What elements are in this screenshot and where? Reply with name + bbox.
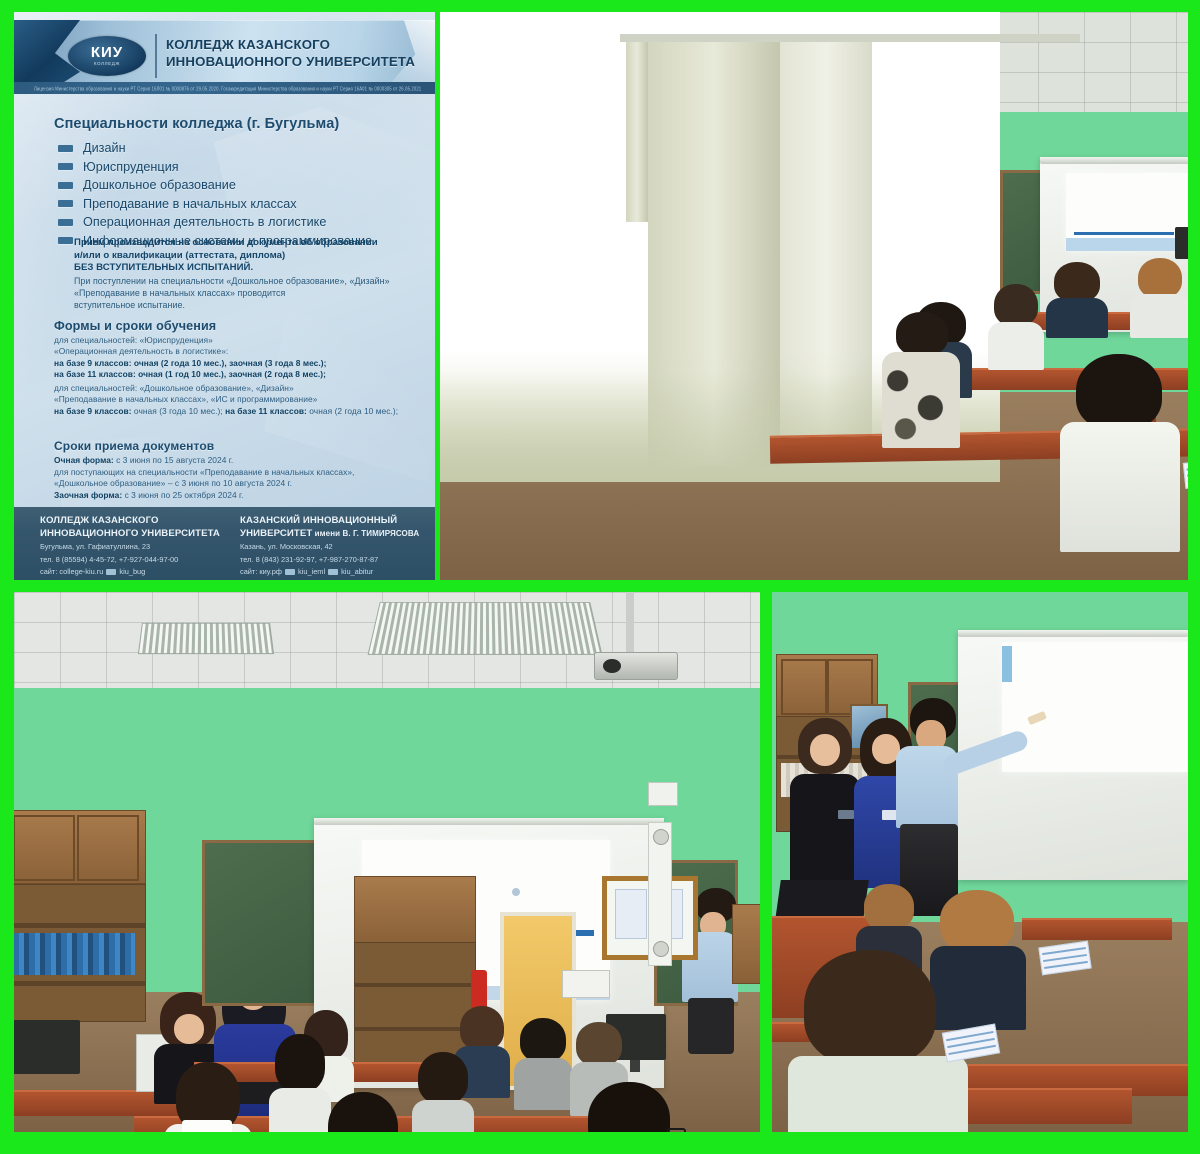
student-figure — [514, 1018, 572, 1104]
footer-university-column: КАЗАНСКИЙ ИННОВАЦИОННЫЙ УНИВЕРСИТЕТ имен… — [240, 515, 435, 578]
wall-cabinet — [354, 876, 476, 944]
classroom-presentation-photo — [440, 12, 1188, 580]
bullet-icon — [58, 145, 73, 152]
presenter-figure — [896, 698, 992, 914]
ceiling-lamp — [138, 623, 274, 654]
computer-monitor — [1175, 227, 1188, 259]
specialties-list: Дизайн Юриспруденция Дошкольное образова… — [58, 139, 428, 250]
student-glasses-figure — [574, 1082, 684, 1132]
bullet-icon — [58, 163, 73, 170]
bullet-icon — [58, 219, 73, 226]
computer-monitor — [14, 1020, 80, 1074]
footer-college-column: КОЛЛЕДЖ КАЗАНСКОГО ИННОВАЦИОННОГО УНИВЕР… — [40, 515, 230, 578]
footer-col1-title: КОЛЛЕДЖ КАЗАНСКОГО ИННОВАЦИОННОГО УНИВЕР… — [40, 515, 230, 540]
student-foreground-figure — [788, 950, 968, 1132]
license-text: Лицензия Министерства образования и наук… — [14, 85, 421, 91]
footer-col1-address: Бугульма, ул. Гафиатуллина, 23 — [40, 542, 230, 553]
kiu-logo-sub: КОЛЛЕДЖ — [94, 62, 120, 67]
terms-line3: «Дошкольное образование» – с 3 июня по 1… — [54, 478, 434, 490]
slide-content — [1066, 173, 1188, 251]
terms-line1: Очная форма: с 3 июня по 15 августа 2024… — [54, 455, 434, 467]
ceiling-lamp — [368, 602, 603, 655]
curtain-tie — [626, 42, 648, 222]
screen-roller — [958, 630, 1188, 637]
glasses-icon — [666, 1128, 686, 1132]
student-figure — [988, 284, 1044, 362]
classroom-audience-photo — [14, 592, 760, 1132]
forms-g2-line3: на базе 9 классов: очная (3 года 10 мес.… — [54, 406, 434, 417]
specialty-label: Преподавание в начальных классах — [83, 197, 297, 211]
curtain-rail — [620, 34, 1080, 42]
volunteer-black-figure — [790, 718, 860, 888]
footer-col1-links: сайт: college-kiu.rukiu_bug — [40, 567, 230, 578]
leaflet-photo-panel: КИУ КОЛЛЕДЖ КОЛЛЕДЖ КАЗАНСКОГО ИННОВАЦИО… — [14, 12, 435, 580]
footer-col2-links: сайт: киу.рфkiu_iemlkiu_abitur — [240, 567, 435, 578]
slide-content — [1002, 642, 1188, 772]
forms-body: для специальностей: «Юриспруденция» «Опе… — [54, 335, 434, 417]
student-figure — [1130, 258, 1188, 330]
license-strip: Лицензия Министерства образования и наук… — [14, 82, 435, 94]
leaflet-footer-band: КОЛЛЕДЖ КАЗАНСКОГО ИННОВАЦИОННОГО УНИВЕР… — [14, 507, 435, 580]
kiu-logo-main: КИУ — [91, 45, 123, 60]
vk-icon — [106, 569, 116, 575]
black-jacket — [790, 774, 860, 886]
wall-box — [648, 782, 678, 806]
presenter-pointing-photo — [772, 592, 1188, 1132]
student-figure — [412, 1052, 474, 1132]
bullet-icon — [58, 237, 73, 244]
bullet-icon — [58, 200, 73, 207]
forms-g1-line2: «Операционная деятельность в логистике»: — [54, 346, 434, 357]
leaflet-title-line1: КОЛЛЕДЖ КАЗАНСКОГО — [166, 36, 415, 53]
screen-roller — [314, 818, 664, 825]
screen-roller — [1040, 157, 1188, 164]
laptop — [775, 880, 869, 920]
specialties-title: Специальности колледжа (г. Бугульма) — [54, 116, 339, 132]
kiu-logo: КИУ КОЛЛЕДЖ — [68, 36, 146, 76]
forms-g2-line2: «Преподавание в начальных классах», «ИС … — [54, 394, 434, 405]
list-item: Дизайн — [58, 139, 428, 158]
list-item: Операционная деятельность в логистике — [58, 213, 428, 232]
bullet-icon — [58, 182, 73, 189]
terms-line4: Заочная форма: с 3 июня по 25 октября 20… — [54, 490, 434, 502]
admission-note-line3: БЕЗ ВСТУПИТЕЛЬНЫХ ИСПЫТАНИЙ. — [74, 262, 424, 275]
leaflet-title-line2: ИННОВАЦИОННОГО УНИВЕРСИТЕТА — [166, 53, 415, 70]
photo-collage: КИУ КОЛЛЕДЖ КОЛЛЕДЖ КАЗАНСКОГО ИННОВАЦИО… — [0, 0, 1200, 1154]
desk — [1022, 918, 1172, 940]
admission-note-line2: и/или о квалификации (аттестата, диплома… — [74, 250, 424, 263]
terms-body: Очная форма: с 3 июня по 15 августа 2024… — [54, 455, 434, 501]
entrance-exam-line3: вступительное испытание. — [74, 299, 429, 311]
specialty-label: Дизайн — [83, 141, 126, 155]
student-figure — [314, 1092, 410, 1132]
specialty-label: Юриспруденция — [83, 160, 179, 174]
white-collar — [182, 1120, 232, 1132]
vk-icon — [328, 569, 338, 575]
footer-col2-phone: тел. 8 (843) 231-92-97, +7-987-270-87-87 — [240, 555, 435, 566]
header-divider — [155, 34, 157, 78]
forms-g1-line4: на базе 11 классов: очная (1 год 10 мес.… — [54, 369, 434, 380]
terms-title: Сроки приема документов — [54, 439, 214, 453]
kiu-badge — [838, 810, 854, 819]
bookshelf — [14, 884, 146, 1022]
admission-note-line1: Прием производится на основании документ… — [74, 237, 424, 250]
books-row — [14, 933, 135, 975]
forms-g1-line1: для специальностей: «Юриспруденция» — [54, 335, 434, 346]
footer-col1-phone: тел. 8 (85594) 4-45-72, +7-927-044-97-00 — [40, 555, 230, 566]
entrance-exam-line1: При поступлении на специальности «Дошкол… — [74, 275, 429, 287]
wall-cabinet — [732, 904, 760, 984]
projector-mount — [626, 592, 634, 658]
list-item: Юриспруденция — [58, 158, 428, 177]
list-item: Дошкольное образование — [58, 176, 428, 195]
leaflet-title: КОЛЛЕДЖ КАЗАНСКОГО ИННОВАЦИОННОГО УНИВЕР… — [166, 36, 415, 70]
projector — [594, 652, 678, 680]
forms-g2-line1: для специальностей: «Дошкольное образова… — [54, 383, 434, 394]
student-front-figure — [1060, 354, 1180, 544]
wall-cabinet — [14, 810, 146, 884]
footer-col2-address: Казань, ул. Московская, 42 — [240, 542, 435, 553]
entrance-exam-note: При поступлении на специальности «Дошкол… — [74, 275, 429, 312]
leaflet-header-band: КИУ КОЛЛЕДЖ КОЛЛЕДЖ КАЗАНСКОГО ИННОВАЦИО… — [14, 20, 435, 92]
entrance-exam-line2: «Преподавание в начальных классах» прово… — [74, 287, 429, 299]
admission-note-bold: Прием производится на основании документ… — [74, 237, 424, 275]
terms-line2: для поступающих на специальности «Препод… — [54, 467, 434, 479]
forms-title: Формы и сроки обучения — [54, 319, 216, 333]
white-shirt — [1060, 422, 1180, 552]
radiator-pipe — [648, 822, 672, 966]
specialty-label: Дошкольное образование — [83, 178, 236, 192]
footer-col2-title: КАЗАНСКИЙ ИННОВАЦИОННЫЙ УНИВЕРСИТЕТ имен… — [240, 515, 435, 540]
student-braid-figure — [164, 1062, 252, 1132]
camo-hoodie — [882, 352, 960, 448]
list-item: Преподавание в начальных классах — [58, 195, 428, 214]
vk-icon — [285, 569, 295, 575]
student-camo-figure — [882, 312, 960, 442]
wall-sign — [562, 970, 610, 998]
specialty-label: Операционная деятельность в логистике — [83, 215, 326, 229]
student-figure — [1046, 262, 1108, 332]
light-shirt — [788, 1056, 968, 1132]
forms-g1-line3: на базе 9 классов: очная (2 года 10 мес.… — [54, 358, 434, 369]
